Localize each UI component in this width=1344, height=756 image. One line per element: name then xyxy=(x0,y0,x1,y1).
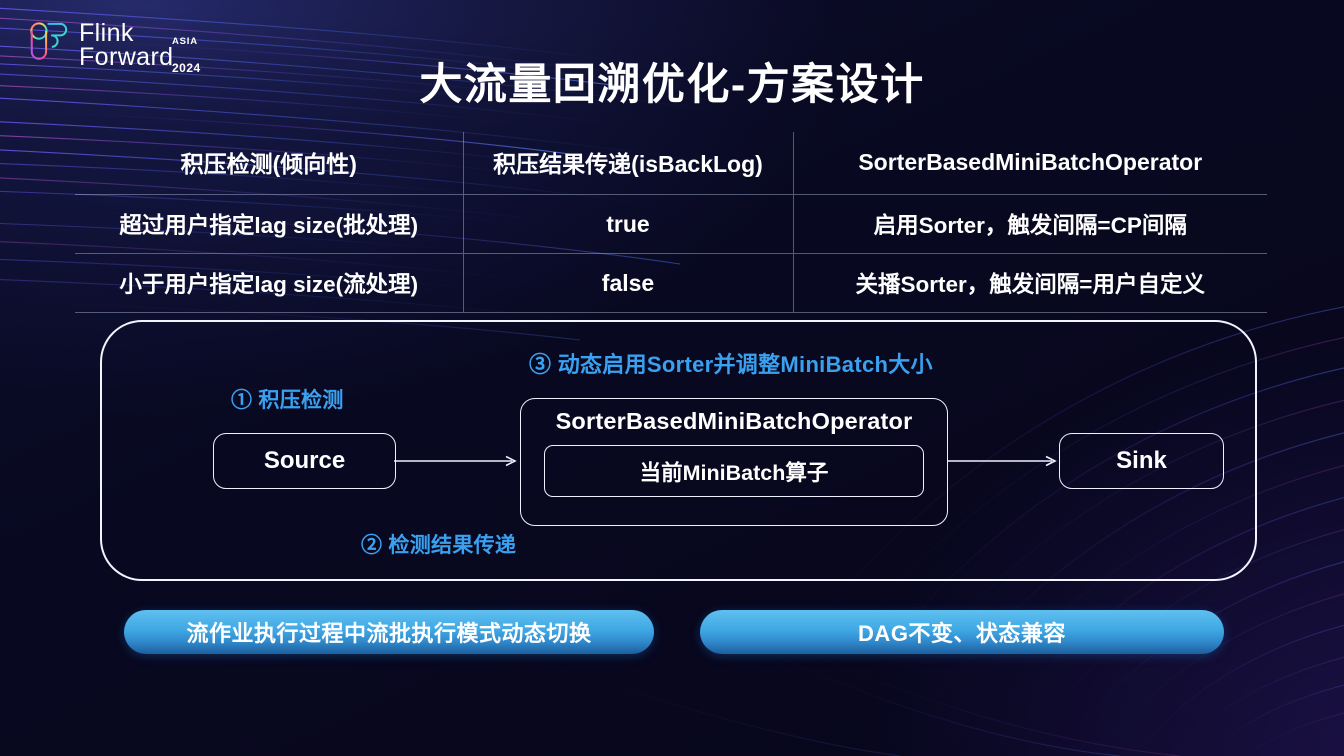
table-cell: 小于用户指定lag size(流处理) xyxy=(75,254,463,313)
node-sink: Sink xyxy=(1059,433,1224,489)
summary-pill-dag-state: DAG不变、状态兼容 xyxy=(700,610,1224,654)
table-header-cell: 积压检测(倾向性) xyxy=(75,132,463,195)
node-operator-title: SorterBasedMiniBatchOperator xyxy=(556,408,913,435)
comparison-table: 积压检测(倾向性) 积压结果传递(isBackLog) SorterBasedM… xyxy=(75,132,1267,313)
step-label-dynamic-sorter: ③ 动态启用Sorter并调整MiniBatch大小 xyxy=(529,347,933,379)
table-cell: 关播Sorter，触发间隔=用户自定义 xyxy=(793,254,1267,313)
node-sorter-based-minibatch-operator: SorterBasedMiniBatchOperator 当前MiniBatch… xyxy=(520,398,948,526)
brand-badge-region: ASIA xyxy=(172,36,198,47)
step-label-backlog-detection: ① 积压检测 xyxy=(231,384,344,414)
node-source: Source xyxy=(213,433,396,489)
arrow-source-to-operator-icon xyxy=(394,455,520,467)
table-header-row: 积压检测(倾向性) 积压结果传递(isBackLog) SorterBasedM… xyxy=(75,132,1267,195)
page-title: 大流量回溯优化-方案设计 xyxy=(0,50,1344,112)
table-header-cell: SorterBasedMiniBatchOperator xyxy=(793,132,1267,195)
summary-pill-mode-switch: 流作业执行过程中流批执行模式动态切换 xyxy=(124,610,654,654)
step-label-result-propagation: ② 检测结果传递 xyxy=(361,529,516,559)
table-cell: false xyxy=(463,254,793,313)
table-header-cell: 积压结果传递(isBackLog) xyxy=(463,132,793,195)
pipeline-diagram: ① 积压检测 ② 检测结果传递 ③ 动态启用Sorter并调整MiniBatch… xyxy=(100,320,1257,581)
arrow-operator-to-sink-icon xyxy=(947,455,1060,467)
slide-canvas: Flink Forward ASIA 2024 大流量回溯优化-方案设计 积压检… xyxy=(0,0,1344,756)
table-cell: 超过用户指定lag size(批处理) xyxy=(75,195,463,254)
table-row: 超过用户指定lag size(批处理) true 启用Sorter，触发间隔=C… xyxy=(75,195,1267,254)
table-row: 小于用户指定lag size(流处理) false 关播Sorter，触发间隔=… xyxy=(75,254,1267,313)
table-cell: 启用Sorter，触发间隔=CP间隔 xyxy=(793,195,1267,254)
table-cell: true xyxy=(463,195,793,254)
node-current-minibatch-operator: 当前MiniBatch算子 xyxy=(544,445,924,497)
